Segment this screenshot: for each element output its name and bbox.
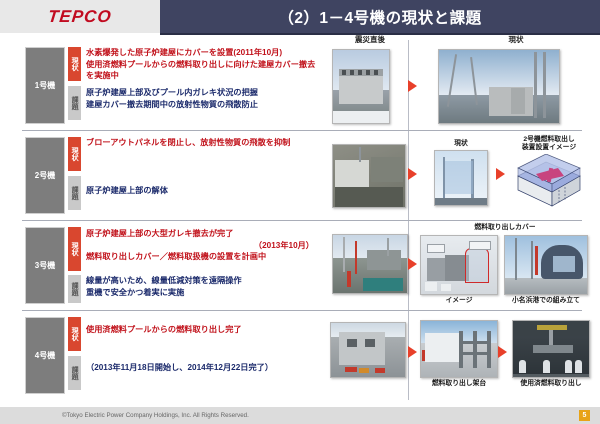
unit4-before-photo bbox=[330, 322, 406, 378]
row-separator bbox=[22, 130, 582, 131]
unit1-now-photo bbox=[438, 49, 560, 124]
row-issue-text: 原子炉建屋上部の解体 bbox=[86, 185, 318, 197]
unit3-group-caption: 燃料取り出しカバー bbox=[418, 224, 592, 232]
row-now-text-value: ブローアウトパネルを閉止し、放射性物質の飛散を抑制 bbox=[86, 138, 290, 147]
row-now-text-line1: 原子炉建屋上部の大型ガレキ撤去が完了 bbox=[86, 229, 233, 238]
status-badge-issue-label: 課題 bbox=[71, 96, 78, 110]
row-separator bbox=[22, 220, 582, 221]
progress-arrow-icon bbox=[496, 168, 505, 180]
row-now-text-value: 使用済燃料プールからの燃料取り出し完了 bbox=[86, 325, 242, 334]
unit4-removal-photo-wrap: 使用済燃料取り出し bbox=[512, 320, 590, 388]
status-badge-issue-label: 課題 bbox=[71, 186, 78, 200]
slide-header: TEPCO （2）1－4号機の現状と課題 bbox=[0, 0, 600, 33]
unit2-before-photo bbox=[332, 144, 406, 208]
status-badge-now: 現状 bbox=[68, 317, 81, 351]
unit4-before-photo-wrap bbox=[330, 322, 406, 378]
row-now-text-value: 水素爆発した原子炉建屋にカバーを設置(2011年10月) 使用済燃料プールからの… bbox=[86, 48, 315, 80]
unit4-frame-photo-wrap: 燃料取り出し架台 bbox=[420, 320, 498, 388]
unit1-before-photo bbox=[332, 49, 390, 124]
status-badge-now: 現状 bbox=[68, 227, 81, 271]
status-badge-issue: 課題 bbox=[68, 356, 81, 390]
unit-label-box: 1号機 bbox=[25, 47, 65, 124]
progress-arrow-icon bbox=[408, 168, 417, 180]
unit3-onahama-photo-wrap: 小名浜港での組み立て bbox=[504, 235, 588, 305]
tepco-logo: TEPCO bbox=[0, 0, 160, 33]
status-badge-issue: 課題 bbox=[68, 275, 81, 303]
row-now-text-line3: 燃料取り出しカバー／燃料取扱機の設置を計画中 bbox=[86, 252, 266, 261]
unit2-device-diagram-icon bbox=[512, 154, 586, 208]
status-badge-now-label: 現状 bbox=[71, 242, 78, 256]
slide-title-bar: （2）1－4号機の現状と課題 bbox=[160, 0, 600, 33]
page-number-badge: 5 bbox=[579, 410, 590, 421]
unit3-before-photo-wrap bbox=[332, 234, 408, 294]
row-now-text-line2: （2013年10月） bbox=[86, 240, 318, 252]
row-now-text: 水素爆発した原子炉建屋にカバーを設置(2011年10月) 使用済燃料プールからの… bbox=[86, 47, 318, 82]
unit4-frame-photo bbox=[420, 320, 498, 378]
status-badge-issue: 課題 bbox=[68, 86, 81, 120]
unit-rows: 1号機 現状 課題 水素爆発した原子炉建屋にカバーを設置(2011年10月) 使… bbox=[0, 40, 600, 400]
unit2-device-image bbox=[512, 154, 586, 208]
unit-label: 3号機 bbox=[35, 260, 55, 271]
unit2-before-photo-wrap bbox=[332, 144, 406, 208]
row-now-text: 原子炉建屋上部の大型ガレキ撤去が完了 （2013年10月） 燃料取り出しカバー／… bbox=[86, 228, 318, 263]
unit-label: 1号機 bbox=[35, 80, 55, 91]
row-issue-text-value: 線量が高いため、線量低減対策を遠隔操作 重機で安全かつ着実に実施 bbox=[86, 276, 242, 297]
progress-arrow-icon bbox=[408, 258, 417, 270]
unit3-cover-image bbox=[420, 235, 498, 295]
copyright-text: ©Tokyo Electric Power Company Holdings, … bbox=[62, 412, 249, 419]
unit3-onahama-photo bbox=[504, 235, 588, 295]
status-badge-now-label: 現状 bbox=[71, 327, 78, 341]
unit2-now-caption: 現状 bbox=[434, 140, 488, 148]
unit-label: 2号機 bbox=[35, 170, 55, 181]
unit4-removal-caption: 使用済燃料取り出し bbox=[512, 380, 590, 388]
unit-label-box: 3号機 bbox=[25, 227, 65, 304]
unit3-cover-image-wrap: イメージ bbox=[420, 235, 498, 305]
table-row: 2号機 現状 課題 ブローアウトパネルを閉止し、放射性物質の飛散を抑制 原子炉建… bbox=[0, 130, 600, 220]
unit1-now-photo-wrap bbox=[438, 49, 560, 124]
unit2-now-photo bbox=[434, 150, 488, 206]
row-issue-text-value: （2013年11月18日開始し、2014年12月22日完了） bbox=[86, 363, 273, 372]
status-badge-now: 現状 bbox=[68, 137, 81, 171]
unit4-removal-photo bbox=[512, 320, 590, 378]
row-issue-text: 原子炉建屋上部及びプール内ガレキ状況の把握 建屋カバー撤去期間中の放射性物質の飛… bbox=[86, 87, 318, 110]
page-title: （2）1－4号機の現状と課題 bbox=[278, 6, 481, 28]
row-issue-text: 線量が高いため、線量低減対策を遠隔操作 重機で安全かつ着実に実施 bbox=[86, 275, 318, 298]
unit-label-box: 2号機 bbox=[25, 137, 65, 214]
status-badge-now-label: 現状 bbox=[71, 147, 78, 161]
row-issue-text-value: 原子炉建屋上部の解体 bbox=[86, 186, 168, 195]
progress-arrow-icon bbox=[408, 346, 417, 358]
status-badge-now: 現状 bbox=[68, 47, 81, 81]
unit2-device-caption: 2号機燃料取出し 装置設置イメージ bbox=[512, 136, 586, 152]
status-badge-issue-label: 課題 bbox=[71, 366, 78, 380]
unit4-frame-caption: 燃料取り出し架台 bbox=[420, 380, 498, 388]
unit-label-box: 4号機 bbox=[25, 317, 65, 394]
status-badge-now-label: 現状 bbox=[71, 57, 78, 71]
unit2-now-photo-wrap: 現状 bbox=[434, 140, 488, 206]
table-row: 3号機 現状 課題 原子炉建屋上部の大型ガレキ撤去が完了 （2013年10月） … bbox=[0, 220, 600, 310]
progress-arrow-icon bbox=[498, 346, 507, 358]
row-issue-text: （2013年11月18日開始し、2014年12月22日完了） bbox=[86, 362, 318, 374]
status-badge-issue-label: 課題 bbox=[71, 282, 78, 296]
row-now-text: ブローアウトパネルを閉止し、放射性物質の飛散を抑制 bbox=[86, 137, 318, 149]
progress-arrow-icon bbox=[408, 80, 417, 92]
table-row: 4号機 現状 課題 使用済燃料プールからの燃料取り出し完了 （2013年11月1… bbox=[0, 310, 600, 400]
unit3-before-photo bbox=[332, 234, 408, 294]
unit3-cover-caption: イメージ bbox=[420, 297, 498, 305]
slide-footer: ©Tokyo Electric Power Company Holdings, … bbox=[0, 407, 600, 424]
unit-label: 4号機 bbox=[35, 350, 55, 361]
row-separator bbox=[22, 310, 582, 311]
row-issue-text-value: 原子炉建屋上部及びプール内ガレキ状況の把握 建屋カバー撤去期間中の放射性物質の飛… bbox=[86, 88, 258, 109]
row-now-text: 使用済燃料プールからの燃料取り出し完了 bbox=[86, 324, 318, 336]
unit1-before-photo-wrap bbox=[332, 49, 390, 124]
status-badge-issue: 課題 bbox=[68, 176, 81, 210]
unit2-device-image-wrap: 2号機燃料取出し 装置設置イメージ bbox=[512, 136, 586, 208]
unit3-onahama-caption: 小名浜港での組み立て bbox=[504, 297, 588, 305]
tepco-logo-text: TEPCO bbox=[47, 7, 113, 27]
table-row: 1号機 現状 課題 水素爆発した原子炉建屋にカバーを設置(2011年10月) 使… bbox=[0, 40, 600, 130]
